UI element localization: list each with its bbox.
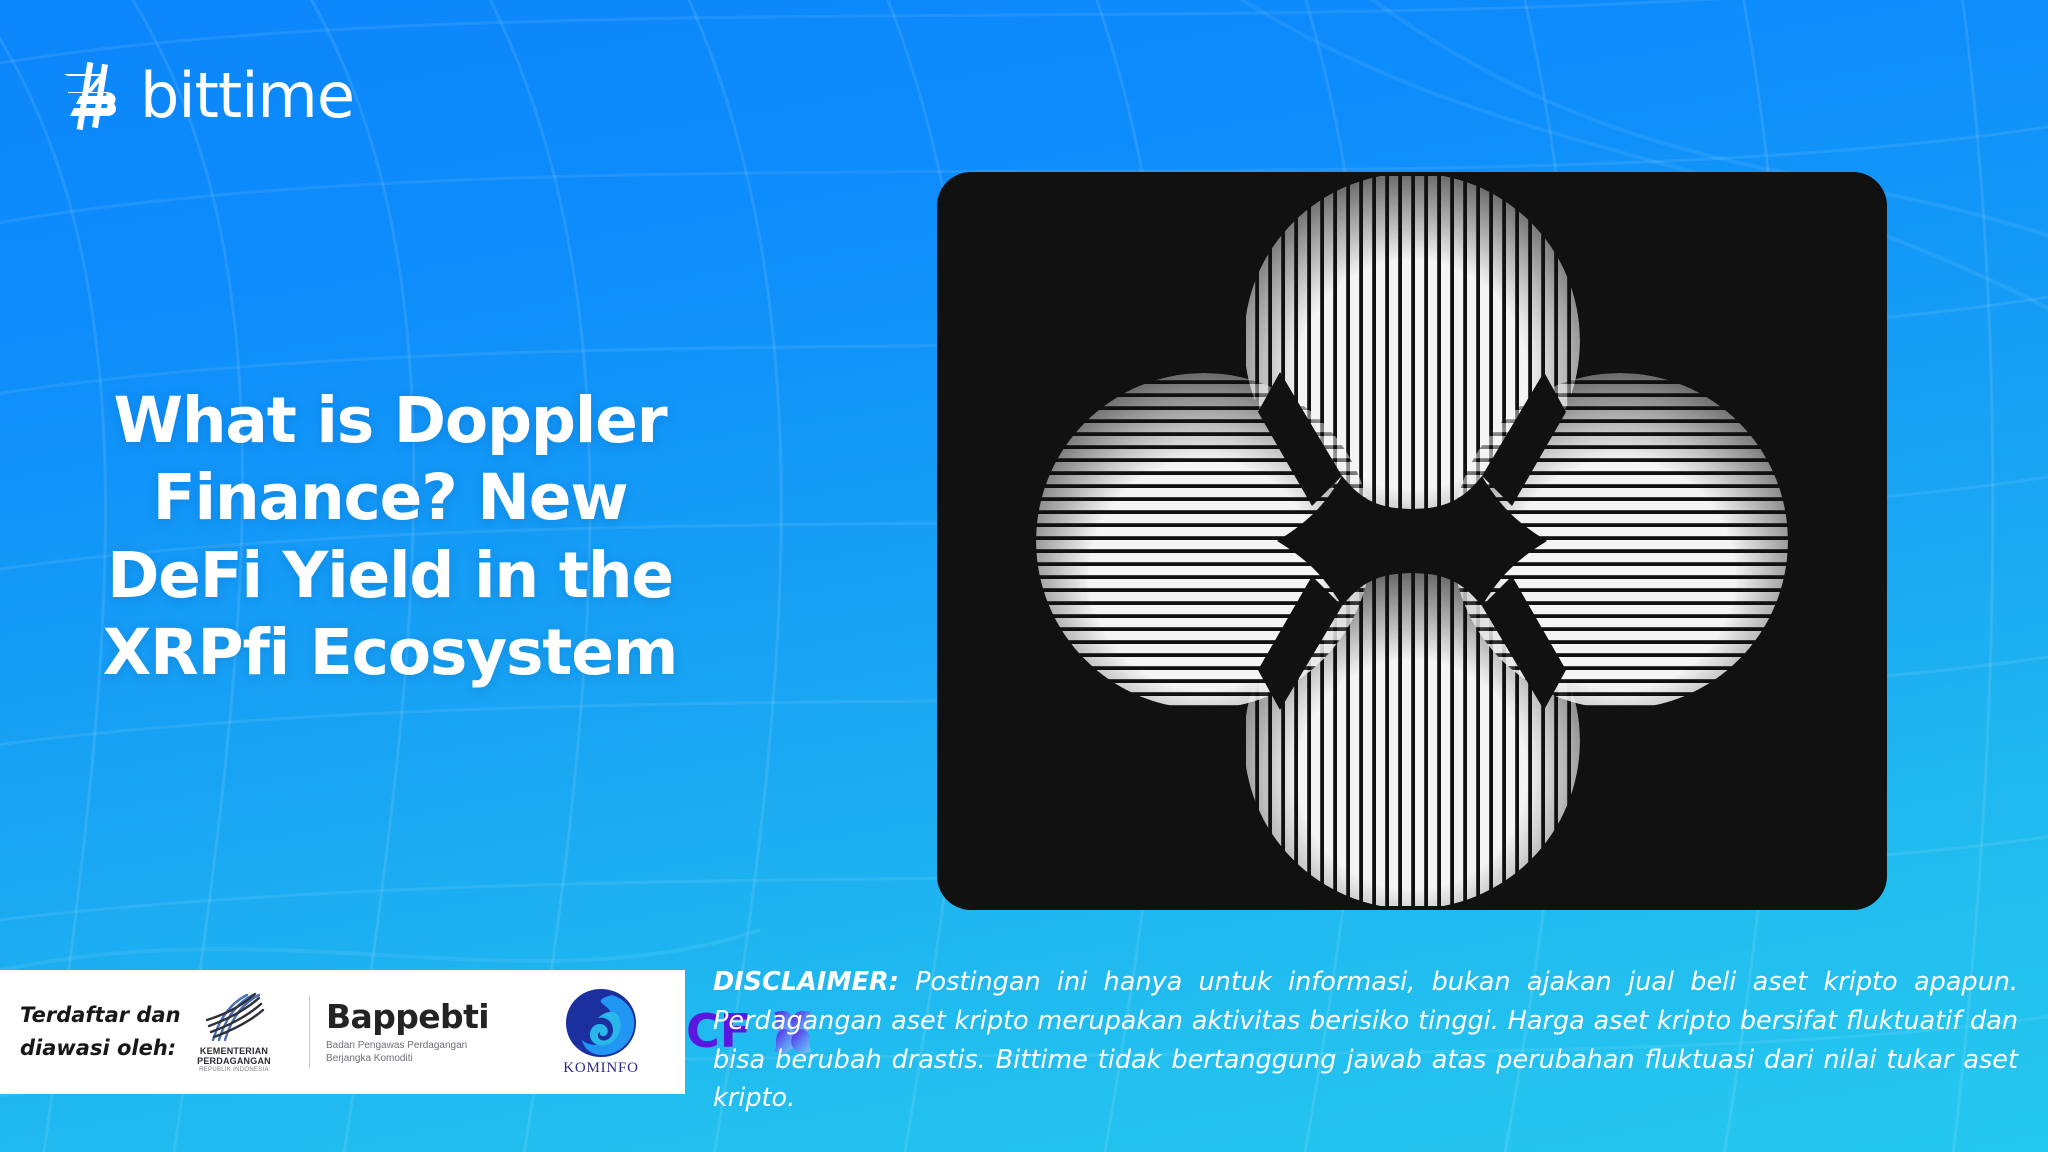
regulator-intro-line-2: diawasi oleh: — [20, 1032, 175, 1065]
regulator-divider — [309, 995, 310, 1069]
kemendag-logo: KEMENTERIAN PERDAGANGAN REPUBLIK INDONES… — [175, 990, 293, 1073]
headline-line-1: What is Doppler — [70, 382, 710, 459]
bappebti-subtitle: Badan Pengawas Perdagangan Berjangka Kom… — [326, 1039, 526, 1065]
bappebti-subtitle-line-2: Berjangka Komoditi — [326, 1052, 526, 1065]
regulator-badge-bar: Terdaftar dan diawasi oleh: — [0, 970, 685, 1094]
kominfo-label: KOMINFO — [563, 1060, 639, 1077]
xrp-logo-artwork — [1012, 176, 1812, 906]
headline-line-2: Finance? New — [70, 459, 710, 536]
kemendag-name-line-2: PERDAGANGAN — [197, 1057, 271, 1067]
disclaimer-title: DISCLAIMER: — [713, 967, 899, 997]
bappebti-name: Bappebti — [326, 1000, 526, 1033]
regulator-intro-text: Terdaftar dan diawasi oleh: — [20, 999, 175, 1064]
headline-line-4: XRPfi Ecosystem — [70, 614, 710, 691]
disclaimer-body: Postingan ini hanya untuk informasi, buk… — [713, 967, 2018, 1113]
kominfo-logo: KOMINFO — [542, 987, 660, 1077]
brand-logo[interactable]: bittime — [62, 62, 354, 130]
disclaimer-text: DISCLAIMER: Postingan ini hanya untuk in… — [713, 963, 2018, 1118]
regulator-intro-line-1: Terdaftar dan — [20, 999, 175, 1032]
bappebti-logo: Bappebti Badan Pengawas Perdagangan Berj… — [326, 1000, 526, 1065]
bitcoin-b-icon — [62, 62, 124, 130]
page-title: What is Doppler Finance? New DeFi Yield … — [70, 382, 710, 692]
brand-logo-text: bittime — [140, 65, 354, 127]
kemendag-caption: KEMENTERIAN PERDAGANGAN REPUBLIK INDONES… — [197, 1047, 271, 1073]
kominfo-wave-icon — [564, 987, 638, 1059]
kemendag-weave-icon — [203, 990, 265, 1044]
xrp-striped-logo-icon — [1012, 176, 1812, 906]
hero-image-card — [937, 172, 1887, 910]
bappebti-subtitle-line-1: Badan Pengawas Perdagangan — [326, 1039, 526, 1052]
kemendag-subtitle: REPUBLIK INDONESIA — [197, 1067, 271, 1074]
promo-banner: bittime What is Doppler Finance? New DeF… — [0, 0, 2048, 1152]
headline-line-3: DeFi Yield in the — [70, 537, 710, 614]
